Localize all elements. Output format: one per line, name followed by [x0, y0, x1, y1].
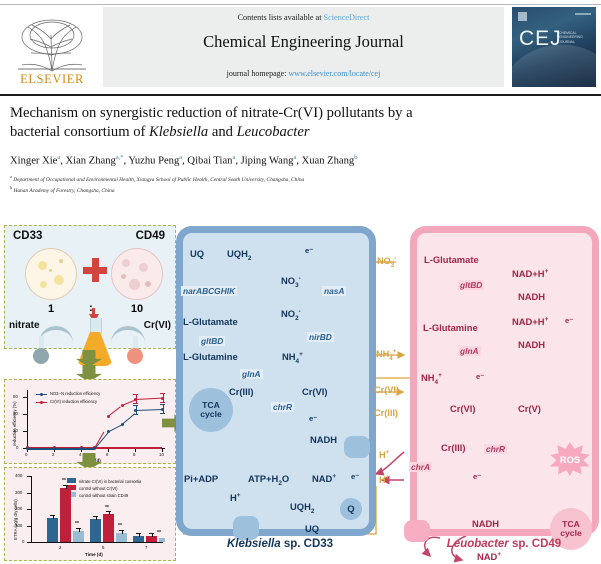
x-tick-label: 6 [106, 452, 108, 457]
klebsiella-caption: Klebsiella sp. CD33 [180, 538, 380, 550]
molecule-nadh-leu: NADH [472, 518, 499, 529]
cover-subtitle: CHEMICAL ENGINEERING JOURNAL [559, 31, 593, 44]
petri-dish-cd33-icon [25, 248, 77, 300]
affiliation-mark: a [10, 174, 12, 179]
y-axis-label: reduction efficiency (%) [12, 401, 17, 446]
bar-chart: 0 100 200 300 400 ETRA (µg/g dry cells) … [5, 468, 177, 562]
title-line-1: Mechanism on synergistic reduction of ni… [10, 105, 413, 121]
molecule-cr3-kleb: Cr(III) [229, 386, 253, 397]
journal-cover-image: CEJ CHEMICAL ENGINEERING JOURNAL [512, 7, 596, 87]
x-axis-label: Time (d) [85, 552, 103, 557]
legend-line-series-2 [36, 402, 47, 403]
quinone-pool-icon: Q [340, 498, 362, 520]
molecule-nad-h-2: NAD+H+ [512, 316, 548, 327]
sciencedirect-link[interactable]: ScienceDirect [324, 13, 370, 22]
inoculation-panel: CD33 CD49 1 : [4, 225, 176, 349]
contents-lists-text: Contents lists available at [238, 13, 324, 22]
x-tick-label: 8 [133, 452, 135, 457]
molecule-nadh-kleb: NADH [310, 434, 337, 445]
data-point [53, 447, 56, 450]
author-affil-mark: a [57, 154, 60, 161]
molecule-nadh-2: NADH [518, 339, 545, 350]
data-point [26, 447, 29, 450]
y-tick-label: 60 [13, 394, 18, 399]
gene-gltBD-kleb: gltBD [199, 336, 225, 346]
etra-chart-panel: 0 100 200 300 400 ETRA (µg/g dry cells) … [4, 467, 176, 561]
gene-glnA-kleb: glnA [240, 369, 263, 379]
leucobacter-caption: Leuobacter sp. CD49 [408, 538, 600, 550]
cover-cej-logo: CEJ [519, 27, 562, 51]
affiliation-text: Department of Occupational and Environme… [13, 176, 304, 182]
author-name: Xuan Zhang [302, 156, 355, 167]
bar [116, 533, 127, 542]
data-point [107, 415, 110, 418]
bar [73, 531, 84, 542]
molecule-cr6-leu: Cr(VI) [450, 403, 476, 414]
shuttle-nh4-label: NH4+ [376, 348, 396, 362]
journal-title-box: Contents lists available at ScienceDirec… [103, 7, 504, 87]
affiliations: a Department of Occupational and Environ… [10, 173, 592, 195]
author-affil-mark: a [293, 154, 296, 161]
electron-label: e⁻ [305, 246, 313, 255]
author-affil-mark: a [179, 154, 182, 161]
strain-cd33-label: CD33 [13, 230, 42, 242]
petri-dish-cd49-icon [111, 248, 163, 300]
molecule-atp-h2o: ATP+H2O [248, 473, 289, 487]
y-tick-label: 300 [15, 490, 22, 495]
cover-emblem-icon [518, 12, 527, 21]
title-genus-klebsiella: Klebsiella [149, 124, 208, 140]
klebsiella-cell-panel [176, 226, 376, 536]
molecule-pi-adp: Pi+ADP [184, 473, 218, 484]
author-affil-mark: a,* [116, 154, 124, 161]
molecule-nad-leu: NAD+ [477, 551, 501, 562]
nitrate-label: nitrate [9, 320, 40, 331]
shuttle-hplus-bottom-label: H+ [379, 474, 389, 485]
shuttle-hplus-top-label: H+ [379, 449, 389, 460]
x-tick-label: 2 [52, 452, 54, 457]
tca-cycle-klebsiella: TCAcycle [189, 388, 233, 432]
gene-chrR-kleb: chrR [271, 402, 294, 412]
nadh-dehydrogenase-porin-icon [344, 436, 370, 458]
molecule-l-glutamate: L-Glutamate [183, 316, 238, 327]
gene-nirBD: nirBD [307, 332, 334, 342]
ratio-value-cd49: 10 [111, 303, 163, 315]
molecule-nh4-kleb: NH4+ [282, 351, 303, 365]
electron-label: e⁻ [351, 472, 359, 481]
significance-marker: ** [105, 505, 109, 511]
elsevier-wordmark: ELSEVIER [20, 73, 84, 86]
y-tick-label: 400 [15, 473, 22, 478]
crvi-label: Cr(VI) [144, 320, 171, 331]
molecule-uq-top: UQ [190, 248, 204, 259]
homepage-link[interactable]: www.elsevier.com/locate/cej [288, 69, 380, 78]
paper-frontmatter: Mechanism on synergistic reduction of ni… [10, 104, 592, 195]
electron-label-leu: e⁻ [473, 472, 481, 481]
molecule-hplus-kleb: H+ [230, 492, 241, 503]
title-line-2-mid: and [208, 124, 236, 140]
left-experiment-column: CD33 CD49 1 : [2, 224, 178, 564]
affiliation-mark: b [10, 185, 12, 190]
title-line-2-prefix: bacterial consortium of [10, 124, 149, 140]
molecule-uq-bottom: UQ [305, 523, 319, 534]
molecule-uqh2-top: UQH2 [227, 248, 251, 262]
molecule-l-glutamine-leu: L-Glutamine [423, 322, 478, 333]
journal-header: ELSEVIER Contents lists available at Sci… [0, 4, 601, 88]
x-tick-label: 4 [79, 452, 81, 457]
gene-glnA-leu: glnA [458, 346, 481, 356]
x-tick-label: 0 [25, 452, 27, 457]
nitrate-vial-icon [33, 336, 49, 364]
contents-lists-line: Contents lists available at ScienceDirec… [103, 13, 504, 22]
header-bottom-rule [0, 94, 601, 96]
molecule-uqh2-bottom: UQH2 [290, 501, 314, 515]
header-top-rule [0, 4, 601, 5]
bar [159, 538, 165, 542]
klebsiella-genus: Klebsiella [227, 538, 281, 550]
shuttle-no3-label: NO3- [377, 255, 396, 269]
bar [103, 514, 114, 542]
klebsiella-strain: sp. CD33 [281, 538, 333, 550]
molecule-l-glutamine: L-Glutamine [183, 351, 238, 362]
author-name: Yuzhu Peng [128, 156, 179, 167]
bar [90, 519, 101, 542]
plus-icon [83, 258, 107, 282]
data-point [121, 423, 124, 426]
crvi-vial-icon [127, 336, 143, 364]
significance-marker: ** [62, 478, 66, 484]
electron-label: e⁻ [309, 414, 317, 423]
gene-chrA: chrA [409, 462, 432, 472]
x-tick-label: 7 [145, 545, 147, 550]
author-name: Jiping Wang [241, 156, 294, 167]
molecule-nh4-leu: NH4+ [421, 372, 442, 386]
molecule-cr3-leu: Cr(III) [441, 442, 465, 453]
shuttle-cr3-label: Cr(III) [374, 408, 398, 418]
molecule-nad-h-1: NAD+H+ [512, 268, 548, 279]
data-point [107, 430, 110, 433]
molecule-l-glutamate-leu: L-Glutamate [424, 254, 479, 265]
cover-rule [575, 13, 591, 15]
bar [60, 488, 71, 543]
data-point [121, 404, 124, 407]
reduction-efficiency-chart-panel: 0 20 40 60 0 2 4 6 8 [4, 379, 176, 464]
leucobacter-strain: sp. CD49 [509, 538, 561, 550]
graphical-abstract-page: ELSEVIER Contents lists available at Sci… [0, 0, 601, 564]
journal-homepage-line: journal homepage: www.elsevier.com/locat… [103, 69, 504, 78]
molecule-no3: NO3- [281, 275, 301, 289]
gene-narABCGHIK: narABCGHIK [181, 286, 237, 296]
legend-swatch-series-1 [67, 478, 76, 483]
data-point [93, 447, 96, 450]
author-name: Xian Zhang [66, 156, 116, 167]
legend-label-series-1: NO3--N reduction efficiency [50, 391, 100, 396]
molecule-no2: NO2- [281, 308, 301, 322]
author-affil-mark: b [354, 154, 357, 161]
author-affil-mark: a [232, 154, 235, 161]
elsevier-logo: ELSEVIER [6, 8, 98, 86]
legend-label-series-2: control without Cr(VI) [79, 486, 117, 491]
molecule-nadh-1: NADH [518, 291, 545, 302]
affiliation-text: Hunan Academy of Forestry, Changsha, Chi… [13, 188, 114, 194]
gene-nasA: nasA [322, 286, 346, 296]
journal-name: Chemical Engineering Journal [103, 32, 504, 52]
graphical-abstract: CD33 CD49 1 : [0, 224, 601, 564]
x-tick-label: 5 [102, 545, 104, 550]
title-genus-leucobacter: Leucobacter [237, 124, 310, 140]
molecule-nad-kleb: NAD+ [312, 473, 336, 484]
y-axis-label: ETRA (µg/g dry cells) [13, 499, 18, 540]
electron-label-leu: e⁻ [476, 372, 484, 381]
gene-gltBD-leu: gltBD [458, 280, 484, 290]
significance-marker: ** [75, 521, 79, 527]
strain-cd49-label: CD49 [136, 230, 165, 242]
molecule-cr6-kleb: Cr(VI) [302, 386, 328, 397]
legend-line-series-1 [36, 394, 47, 395]
author-name: Qibai Tian [187, 156, 232, 167]
shuttle-cr6-label: Cr(VI) [374, 385, 399, 395]
leucobacter-genus: Leuobacter [447, 538, 509, 550]
legend-label-series-1: nitrate-Cr(VI) in bacterial consortia [79, 479, 141, 484]
page-title: Mechanism on synergistic reduction of ni… [10, 104, 592, 142]
significance-marker: ** [118, 523, 122, 529]
bar [47, 518, 58, 542]
electron-label-leu: e⁻ [565, 316, 573, 325]
molecule-cr5-leu: Cr(V) [518, 403, 541, 414]
legend-label-series-2: Cr(VI) reduction efficiency [50, 399, 97, 404]
legend-label-series-3: control without strain CD49 [79, 493, 128, 498]
elsevier-tree-icon [10, 13, 94, 73]
homepage-label: journal homepage: [227, 69, 289, 78]
author-name: Xinger Xie [10, 156, 57, 167]
y-tick-label: 0 [22, 539, 24, 544]
x-tick-label: 2 [59, 545, 61, 550]
x-tick-label: 10 [159, 452, 164, 457]
data-point [80, 447, 83, 450]
author-list: Xinger Xiea, Xian Zhanga,*, Yuzhu Penga,… [10, 154, 592, 167]
ratio-value-cd33: 1 [25, 303, 77, 315]
significance-marker: ** [157, 530, 161, 536]
atp-synthase-porin-icon [233, 516, 259, 540]
gene-chrR-leu: chrR [484, 444, 507, 454]
line-chart: 0 20 40 60 0 2 4 6 8 [5, 380, 177, 465]
